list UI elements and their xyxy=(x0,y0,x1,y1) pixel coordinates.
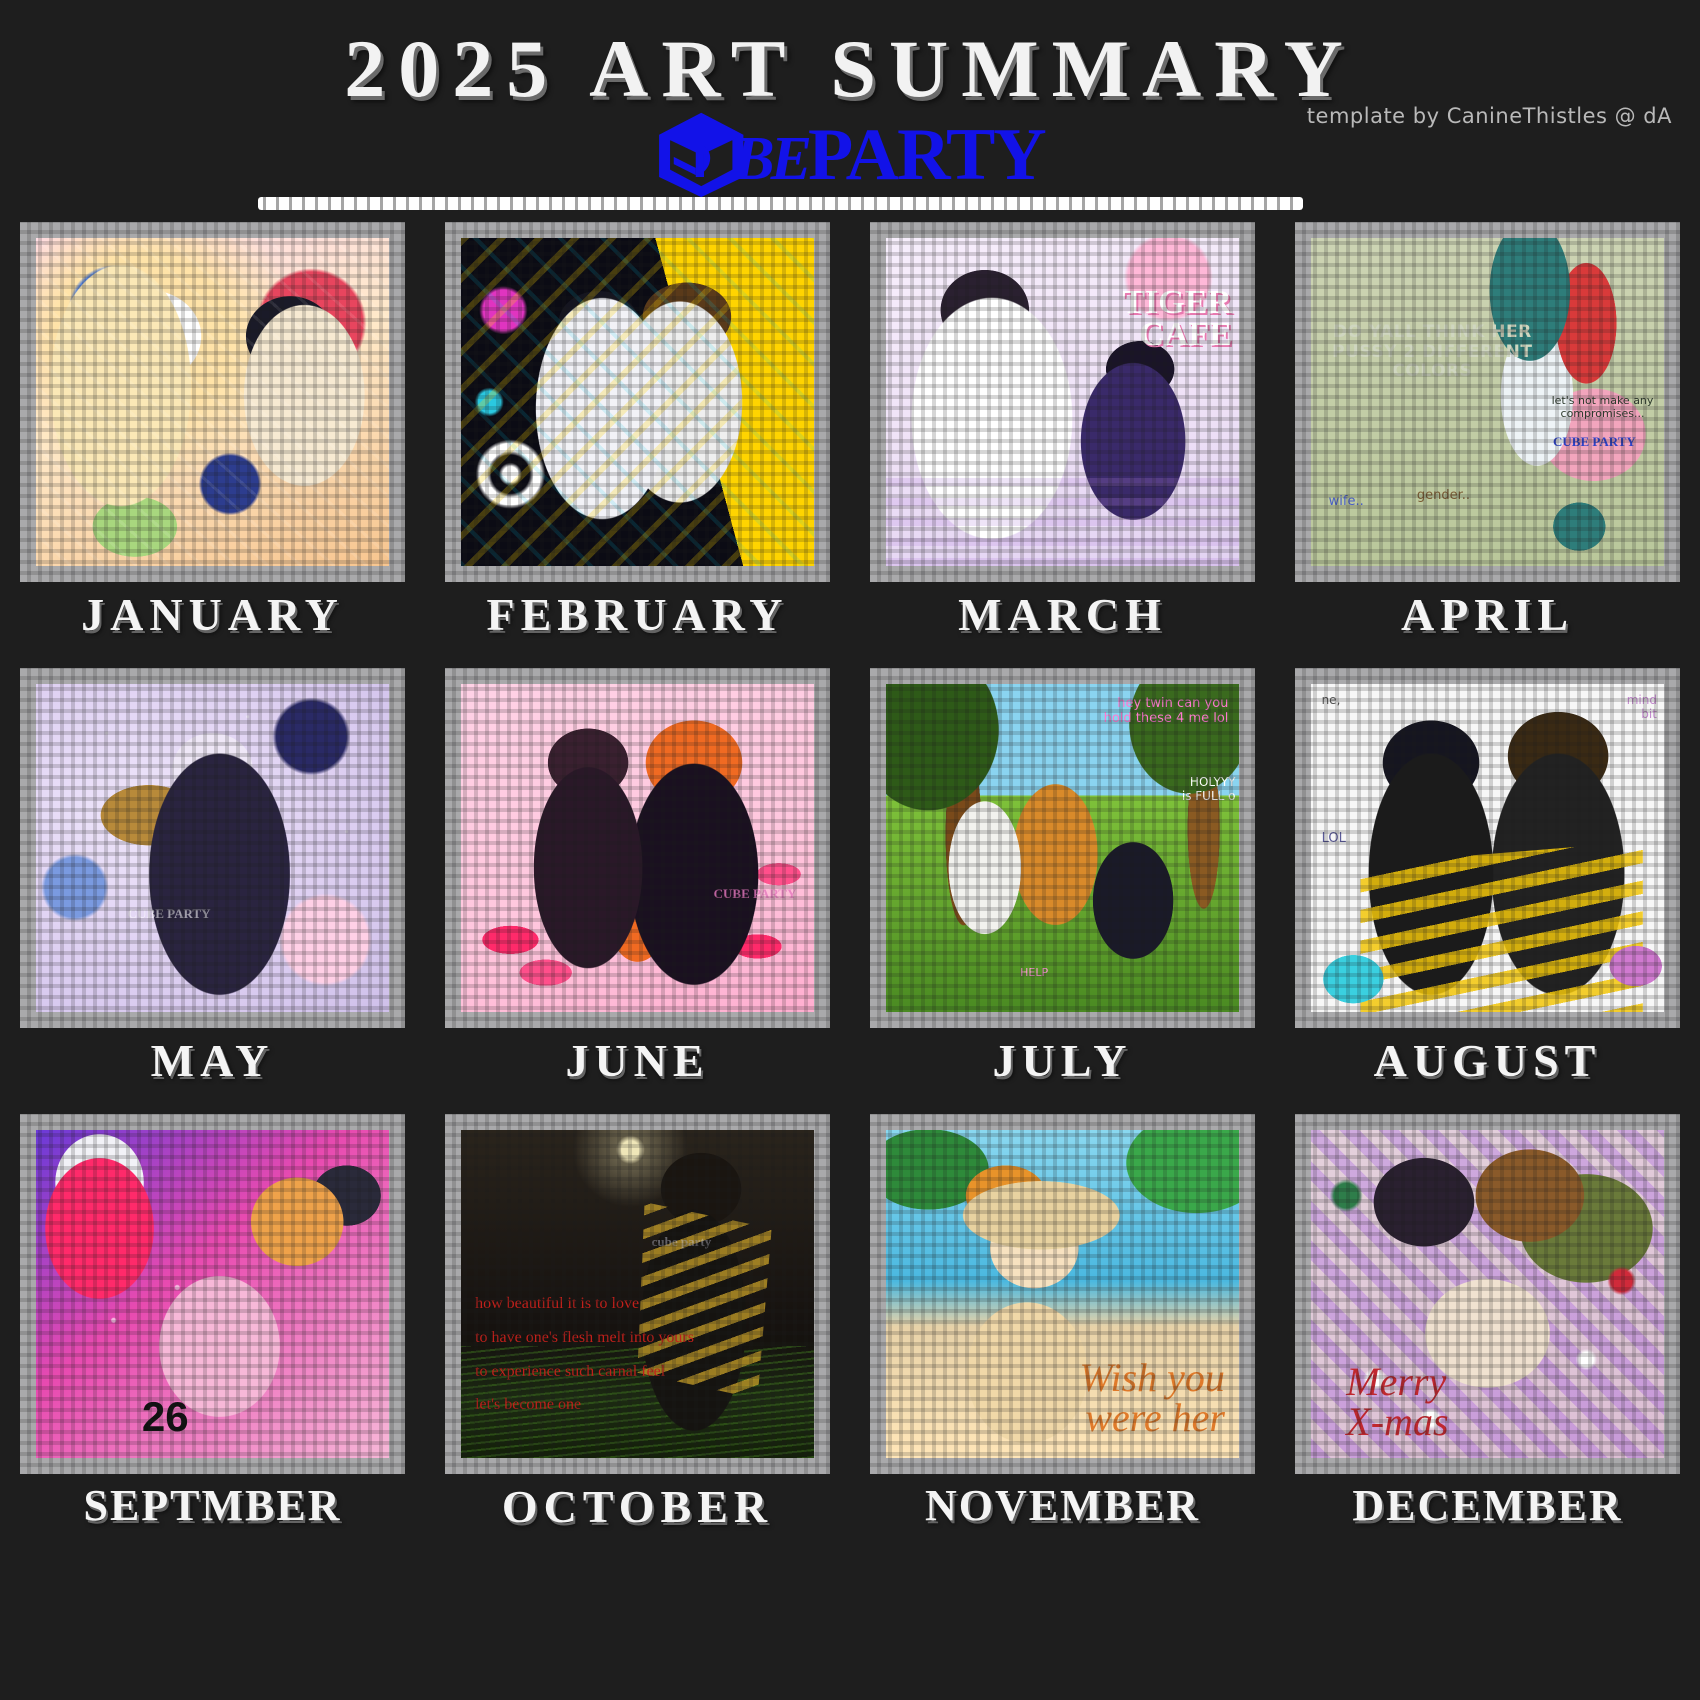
template-credit: template by CanineThistles @ dA xyxy=(1307,104,1672,128)
frame-corner-icon xyxy=(390,567,416,593)
frame-corner-icon xyxy=(9,1459,35,1485)
art-frame-august[interactable]: ne, mind bit LOL xyxy=(1295,668,1680,1028)
art-panel-april[interactable]: DO YALL THINK HER PUSSY 2 DIFFERENT COLO… xyxy=(1311,238,1664,566)
month-label-february: FEBRUARY xyxy=(487,592,789,638)
frame-corner-icon xyxy=(815,1013,841,1039)
month-label-july: JULY xyxy=(993,1038,1133,1084)
art-frame-may[interactable]: CUBE PARTY xyxy=(20,668,405,1028)
frame-corner-icon xyxy=(815,1459,841,1485)
month-cell-september[interactable]: 26 SEPTMBER xyxy=(0,1114,425,1560)
logo-be: BE xyxy=(733,125,808,193)
frame-corner-icon xyxy=(815,567,841,593)
title-divider xyxy=(258,197,1303,210)
page-header: 2025 ART SUMMARY template by CanineThist… xyxy=(0,0,1700,222)
frame-corner-icon xyxy=(1665,1013,1691,1039)
month-cell-may[interactable]: CUBE PARTY MAY xyxy=(0,668,425,1114)
months-grid: JANUARY FEBRUARY xyxy=(0,222,1700,1560)
month-label-june: JUNE xyxy=(565,1038,709,1084)
month-cell-october[interactable]: how beautiful it is to loveto have one's… xyxy=(425,1114,850,1560)
cubeparty-logo: BEPARTY xyxy=(655,110,1045,200)
frame-corner-icon xyxy=(859,1459,885,1485)
month-cell-january[interactable]: JANUARY xyxy=(0,222,425,668)
frame-corner-icon xyxy=(1240,567,1266,593)
frame-corner-icon xyxy=(1284,567,1310,593)
art-panel-november[interactable]: Wish you were her xyxy=(886,1130,1239,1458)
art-panel-january[interactable] xyxy=(36,238,389,566)
art-panel-december[interactable]: Merry X-mas xyxy=(1311,1130,1664,1458)
art-frame-march[interactable]: TIGER CAFE xyxy=(870,222,1255,582)
art-panel-october[interactable]: how beautiful it is to loveto have one's… xyxy=(461,1130,814,1458)
art-frame-november[interactable]: Wish you were her xyxy=(870,1114,1255,1474)
art-frame-december[interactable]: Merry X-mas xyxy=(1295,1114,1680,1474)
art-panel-august[interactable]: ne, mind bit LOL xyxy=(1311,684,1664,1012)
month-cell-june[interactable]: CUBE PARTY JUNE xyxy=(425,668,850,1114)
month-label-may: MAY xyxy=(151,1038,275,1084)
frame-corner-icon xyxy=(1665,1459,1691,1485)
month-label-august: AUGUST xyxy=(1374,1038,1602,1084)
art-panel-july[interactable]: hey twin can you hold these 4 me lol HOL… xyxy=(886,684,1239,1012)
month-label-january: JANUARY xyxy=(81,592,344,638)
frame-corner-icon xyxy=(390,1459,416,1485)
month-label-april: APRIL xyxy=(1401,592,1574,638)
frame-corner-icon xyxy=(859,567,885,593)
month-cell-december[interactable]: Merry X-mas DECEMBER xyxy=(1275,1114,1700,1560)
frame-corner-icon xyxy=(859,1013,885,1039)
month-label-march: MARCH xyxy=(958,592,1167,638)
logo-wordmark: BEPARTY xyxy=(733,120,1045,190)
art-panel-may[interactable]: CUBE PARTY xyxy=(36,684,389,1012)
month-cell-november[interactable]: Wish you were her NOVEMBER xyxy=(850,1114,1275,1560)
month-cell-april[interactable]: DO YALL THINK HER PUSSY 2 DIFFERENT COLO… xyxy=(1275,222,1700,668)
month-cell-august[interactable]: ne, mind bit LOL AUGUST xyxy=(1275,668,1700,1114)
frame-corner-icon xyxy=(9,567,35,593)
october-watermark: cube party xyxy=(652,1235,712,1249)
art-frame-june[interactable]: CUBE PARTY xyxy=(445,668,830,1028)
month-label-september: SEPTMBER xyxy=(83,1484,341,1528)
art-frame-october[interactable]: how beautiful it is to loveto have one's… xyxy=(445,1114,830,1474)
month-label-november: NOVEMBER xyxy=(925,1484,1200,1528)
april-watermark: CUBE PARTY xyxy=(1553,435,1636,449)
month-cell-march[interactable]: TIGER CAFE MARCH xyxy=(850,222,1275,668)
frame-corner-icon xyxy=(434,1459,460,1485)
frame-corner-icon xyxy=(1665,567,1691,593)
month-label-december: DECEMBER xyxy=(1352,1484,1622,1528)
art-frame-july[interactable]: hey twin can you hold these 4 me lol HOL… xyxy=(870,668,1255,1028)
june-watermark: CUBE PARTY xyxy=(714,887,797,901)
art-panel-june[interactable]: CUBE PARTY xyxy=(461,684,814,1012)
month-cell-july[interactable]: hey twin can you hold these 4 me lol HOL… xyxy=(850,668,1275,1114)
frame-corner-icon xyxy=(1240,1459,1266,1485)
frame-corner-icon xyxy=(434,1013,460,1039)
art-panel-february[interactable] xyxy=(461,238,814,566)
frame-corner-icon xyxy=(1284,1459,1310,1485)
frame-corner-icon xyxy=(9,1013,35,1039)
month-label-october: OCTOBER xyxy=(502,1484,773,1530)
frame-corner-icon xyxy=(1284,1013,1310,1039)
may-watermark: CUBE PARTY xyxy=(128,907,211,921)
art-frame-february[interactable] xyxy=(445,222,830,582)
frame-corner-icon xyxy=(390,1013,416,1039)
frame-corner-icon xyxy=(434,567,460,593)
art-frame-september[interactable]: 26 xyxy=(20,1114,405,1474)
page-title: 2025 ART SUMMARY xyxy=(0,22,1700,116)
art-panel-september[interactable]: 26 xyxy=(36,1130,389,1458)
art-frame-april[interactable]: DO YALL THINK HER PUSSY 2 DIFFERENT COLO… xyxy=(1295,222,1680,582)
month-cell-february[interactable]: FEBRUARY xyxy=(425,222,850,668)
frame-corner-icon xyxy=(1240,1013,1266,1039)
art-panel-march[interactable]: TIGER CAFE xyxy=(886,238,1239,566)
logo-party: PARTY xyxy=(808,114,1045,196)
art-frame-january[interactable] xyxy=(20,222,405,582)
